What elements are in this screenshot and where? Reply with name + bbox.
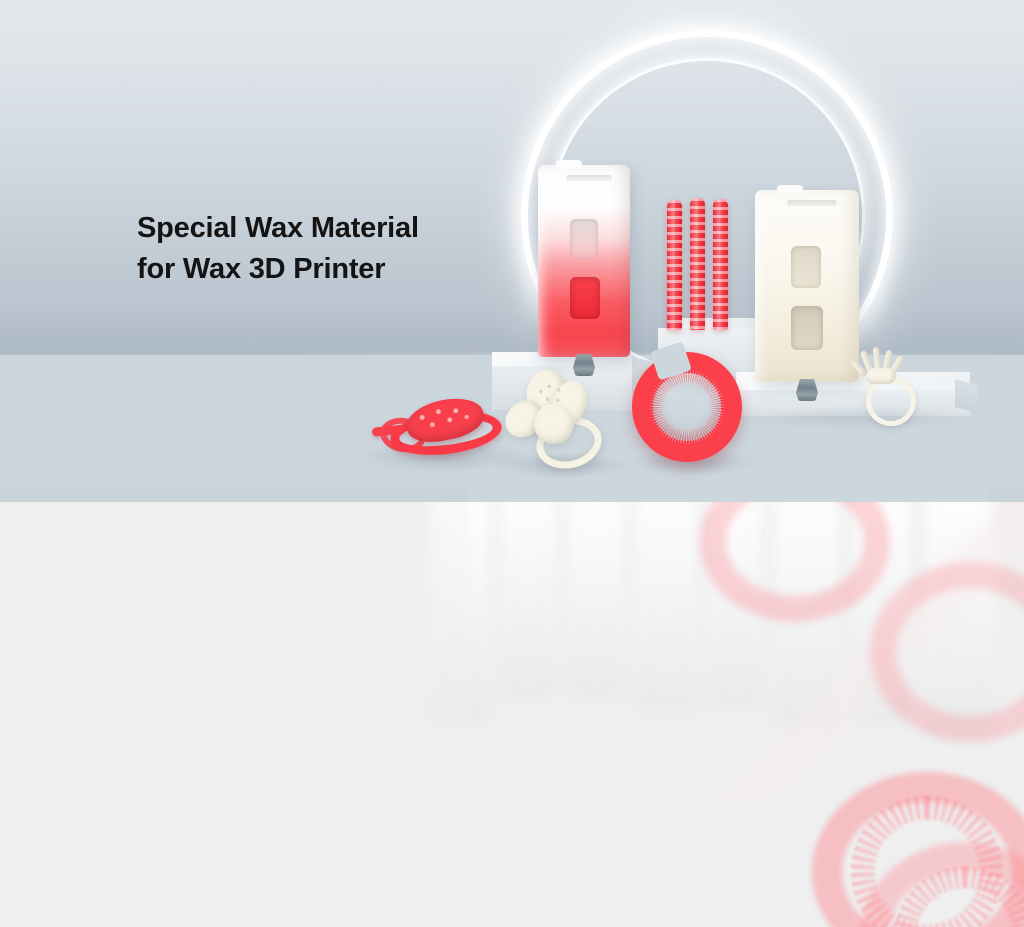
cartridge-window-upper xyxy=(791,246,821,288)
cartridge-notch xyxy=(777,185,803,193)
hero-title-line-1: Special Wax Material xyxy=(137,208,467,249)
cartridge-notch xyxy=(556,160,582,168)
ivory-coral-ring xyxy=(846,350,920,428)
background-column xyxy=(566,502,626,697)
cartridge-window-lower xyxy=(791,306,823,350)
cartridge-window-lower xyxy=(570,277,600,319)
red-band-ring xyxy=(632,352,742,462)
red-rod-3 xyxy=(713,199,728,330)
dimensional-stability-panel: Dimensional Stability 1.1% Volume Shrink… xyxy=(0,502,1024,927)
hero-title: Special Wax Material for Wax 3D Printer xyxy=(137,208,467,290)
red-rod-2 xyxy=(690,198,705,330)
hero-panel: Special Wax Material for Wax 3D Printer xyxy=(0,0,1024,502)
ivory-floral-ring xyxy=(500,370,610,470)
red-filigree-ring xyxy=(372,398,504,456)
cartridge-label-strip xyxy=(787,200,837,206)
cartridge-window-upper xyxy=(570,219,598,259)
red-rod-1 xyxy=(667,200,682,330)
banner-page: Special Wax Material for Wax 3D Printer xyxy=(0,0,1024,927)
hero-title-line-2: for Wax 3D Printer xyxy=(137,249,467,290)
cartridge-label-strip xyxy=(566,175,612,181)
left-background-wash xyxy=(0,502,470,927)
cartridge-nozzle xyxy=(796,379,818,401)
wax-cartridge-ivory xyxy=(755,190,859,382)
wax-cartridge-red xyxy=(538,165,630,357)
background-column xyxy=(500,502,558,698)
